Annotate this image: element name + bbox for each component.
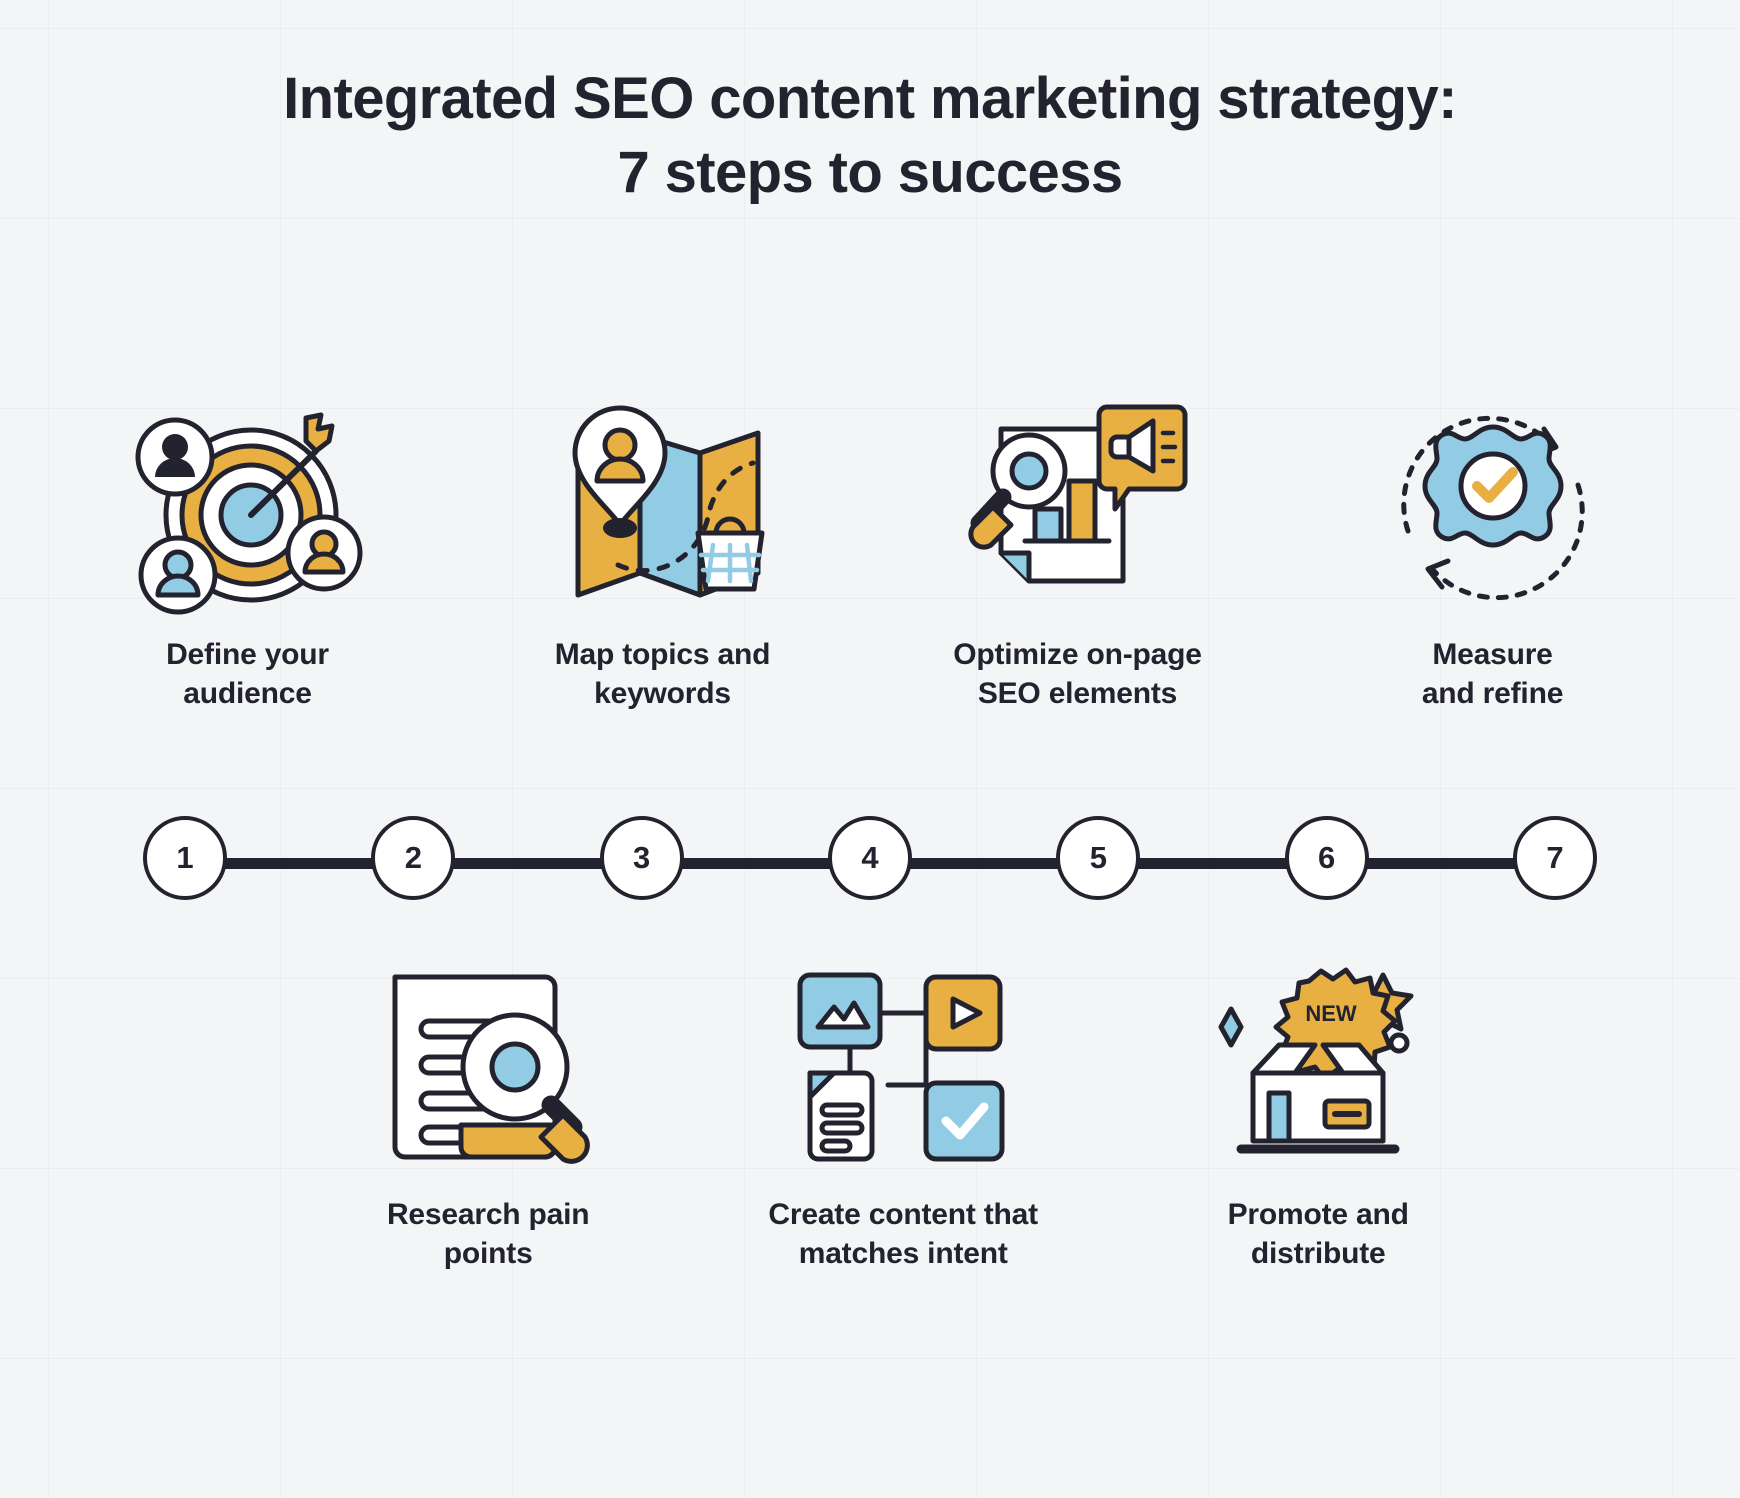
timeline-node-5[interactable]: 5	[1056, 816, 1140, 900]
step-1-label: Define your audience	[166, 636, 329, 713]
step-5[interactable]: Research pain points	[281, 955, 696, 1273]
page-title: Integrated SEO content marketing strateg…	[0, 62, 1740, 210]
new-badge-text: NEW	[1306, 1001, 1358, 1026]
title-line-2: 7 steps to success	[0, 136, 1740, 210]
timeline: 1 2 3 4 5 6 7	[0, 810, 1740, 910]
content-blocks-icon	[788, 955, 1018, 1170]
timeline-node-6[interactable]: 6	[1285, 816, 1369, 900]
timeline-node-7[interactable]: 7	[1513, 816, 1597, 900]
timeline-node-2[interactable]: 2	[371, 816, 455, 900]
steps-row-top: Define your audience	[0, 395, 1740, 713]
step-5-label: Research pain points	[387, 1196, 590, 1273]
step-4-label: Measure and refine	[1422, 636, 1563, 713]
step-3[interactable]: Optimize on-page SEO elements	[870, 395, 1285, 713]
step-4[interactable]: Measure and refine	[1285, 395, 1700, 713]
timeline-node-1[interactable]: 1	[143, 816, 227, 900]
step-7-label: Promote and distribute	[1228, 1196, 1409, 1273]
steps-row-bottom: Research pain points	[0, 955, 1740, 1273]
step-3-label: Optimize on-page SEO elements	[953, 636, 1201, 713]
gear-refresh-check-icon	[1378, 395, 1608, 610]
timeline-node-4[interactable]: 4	[828, 816, 912, 900]
step-6[interactable]: Create content that matches intent	[696, 955, 1111, 1273]
document-magnifier-icon	[373, 955, 603, 1170]
row-bottom-spacer	[40, 955, 281, 1273]
map-pin-keywords-icon	[548, 395, 778, 610]
timeline-node-3[interactable]: 3	[600, 816, 684, 900]
onpage-seo-analytics-icon	[963, 395, 1193, 610]
step-7[interactable]: NEW Promote and distribute	[1111, 955, 1526, 1273]
step-6-label: Create content that matches intent	[768, 1196, 1038, 1273]
step-2[interactable]: Map topics and keywords	[455, 395, 870, 713]
infographic-page: Integrated SEO content marketing strateg…	[0, 0, 1740, 1498]
step-2-label: Map topics and keywords	[555, 636, 771, 713]
audience-target-icon	[133, 395, 363, 610]
new-product-box-icon: NEW	[1203, 955, 1433, 1170]
timeline-nodes: 1 2 3 4 5 6 7	[0, 810, 1740, 910]
step-1[interactable]: Define your audience	[40, 395, 455, 713]
title-line-1: Integrated SEO content marketing strateg…	[0, 62, 1740, 136]
